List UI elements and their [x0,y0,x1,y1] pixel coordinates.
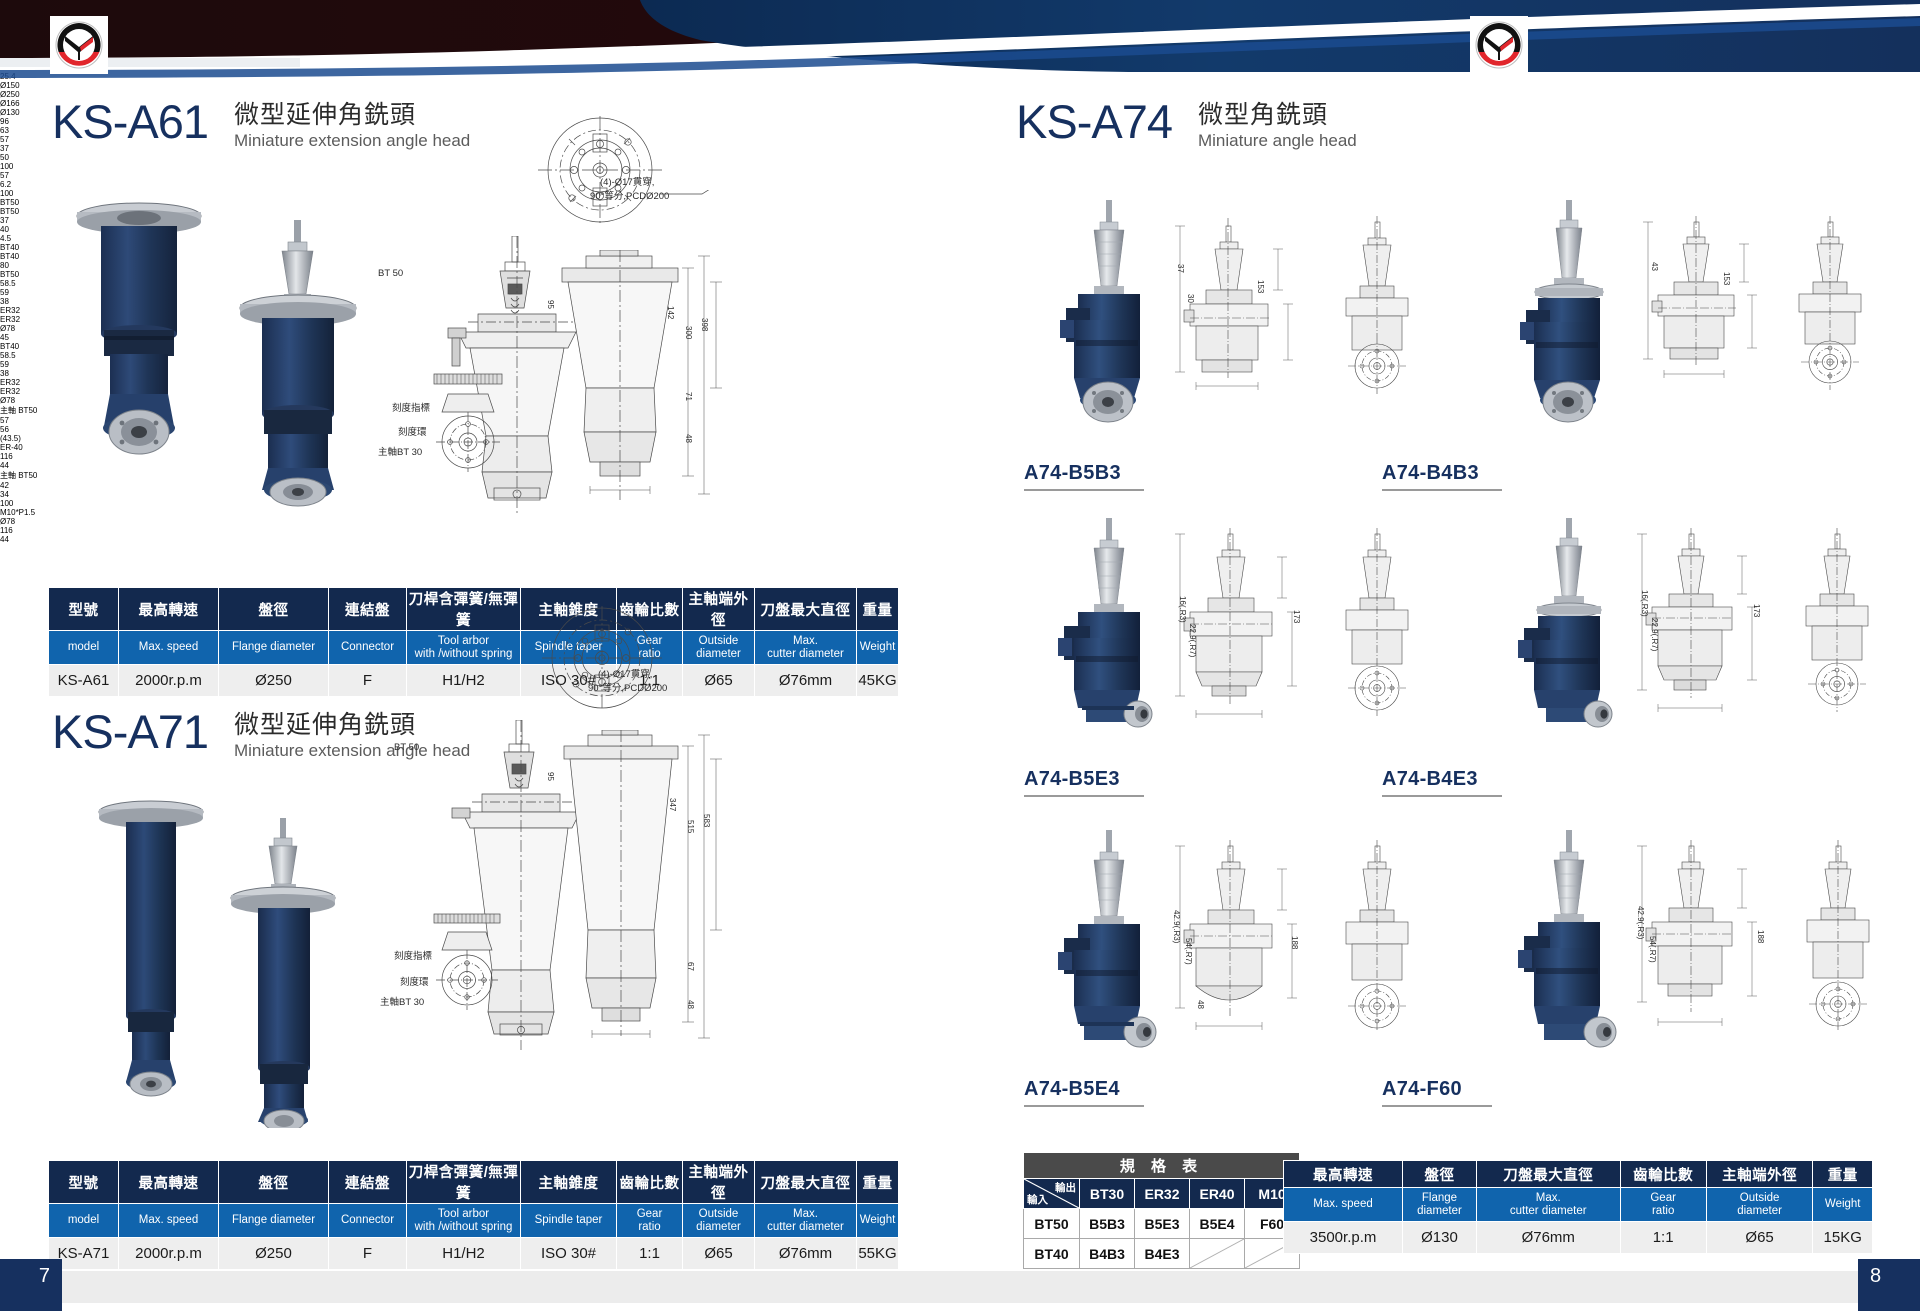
page-number-right: 8 [1858,1259,1920,1311]
th-en-flange-diameter: Flange diameter [219,1204,329,1238]
th-en-gear-ratio: Gear ratio [1620,1188,1706,1222]
product-photo-ks-a61-assembly [210,218,390,513]
compatibility-matrix-table: 規 格 表 輸入 輸出 BT30 ER32 ER40 M10 BT50 B5B3 [1023,1152,1300,1269]
product-title-ks-a61: KS-A61 微型延伸角銑頭 Miniature extension angle… [52,96,470,152]
cell-connector: F [329,1238,407,1270]
cell-connector: F [329,665,407,697]
table-header-row-cn: 最高轉速 盤徑 刀盤最大直徑 齒輪比數 主軸端外徑 重量 [1284,1161,1873,1188]
drawing-ks-a61-elevation [530,250,730,520]
th-cn-outside-diameter: 主軸端外徑 [1706,1161,1813,1188]
th-cn-tool-arbor: 刀桿含彈簧/無彈簧 [407,1161,521,1204]
circular-y-mark-logo-icon [1473,19,1525,71]
annotation-a74-b4b3-d3: 43 [1650,262,1659,271]
th-cn-connector: 連結盤 [329,588,407,631]
cell-tool-arbor: H1/H2 [407,665,521,697]
product-photo-a74-b4b3 [1490,200,1640,435]
matrix-row-header-bt40: BT40 [1024,1239,1080,1269]
table-row: 3500r.p.m Ø130 Ø76mm 1:1 Ø65 15KG [1284,1222,1873,1254]
product-photo-a74-b5e3 [1030,518,1180,743]
th-en-weight: Weight [1813,1188,1873,1222]
th-en-model: model [49,1204,119,1238]
product-name-cn: 微型延伸角銑頭 [234,100,470,130]
annotation-a74-b5b3-d5: 37 [1176,264,1185,273]
th-en-max-speed: Max. speed [119,631,219,665]
th-en-spindle-taper: Spindle taper [521,1204,617,1238]
annotation-a74-b5b3-d7: 57 [0,171,1920,180]
annotation-height-e-a61: 48 [684,434,693,443]
product-name-en: Miniature angle head [1198,130,1357,152]
product-photo-a74-b5e4 [1030,830,1180,1060]
annotation-a74-b5e4-d1: 188 [1290,936,1299,949]
annotation-a74-f60-d1: 188 [1756,930,1765,943]
drawing-a74-b4e3-side [1782,528,1897,728]
annotation-hole-note-a61-line2: 90°等分,PCDØ200 [590,188,669,202]
spec-table-ks-a71: 型號 最高轉速 盤徑 連結盤 刀桿含彈簧/無彈簧 主軸錐度 齒輪比數 主軸端外徑… [48,1160,899,1270]
product-photo-a74-b5b3 [1030,200,1180,435]
th-en-connector: Connector [329,1204,407,1238]
th-cn-flange-diameter: 盤徑 [219,1161,329,1204]
annotation-a74-b5b3-d2: 50 [0,153,1920,162]
th-en-model: model [49,631,119,665]
variant-label-a74-b5e3: A74-B5E3 [1024,768,1144,801]
matrix-row-header-bt50: BT50 [1024,1209,1080,1239]
product-photo-ks-a61-front [54,196,224,471]
matrix-row-bt40: BT40 B4B3 B4E3 [1024,1239,1300,1269]
product-code: KS-A74 [1016,96,1172,148]
matrix-cell-empty-er40 [1190,1239,1245,1269]
page-number-left-value: 7 [39,1265,50,1288]
cell-tool-arbor: H1/H2 [407,1238,521,1270]
annotation-hole-note-a71-line1: (4)-Ø17貫穿, [598,666,652,680]
table-header-row-en: Max. speed Flange diameter Max. cutter d… [1284,1188,1873,1222]
cell-max-cutter: Ø76mm [755,1238,857,1270]
matrix-title: 規 格 表 [1024,1153,1300,1179]
annotation-a74-b5b3-d6: 30 [1186,294,1195,303]
th-en-max-cutter: Max. cutter diameter [1476,1188,1620,1222]
th-cn-weight: 重量 [857,588,899,631]
drawing-a74-b5b3-side [1320,216,1440,416]
th-cn-max-cutter: 刀盤最大直徑 [755,1161,857,1204]
cell-max-cutter: Ø76mm [1476,1222,1620,1254]
annotation-a74-f60-d2: 42.9(.R3) [1636,906,1645,939]
matrix-corner-cell: 輸入 輸出 [1024,1179,1080,1209]
header-banner [0,0,1920,78]
matrix-cell-b5e4: B5E4 [1190,1209,1245,1239]
annotation-pilot-dia-a71: Ø150 [0,81,1920,90]
cell-weight: 15KG [1813,1222,1873,1254]
th-cn-spindle-taper: 主軸錐度 [521,1161,617,1204]
table-header-row-cn: 型號 最高轉速 盤徑 連結盤 刀桿含彈簧/無彈簧 主軸錐度 齒輪比數 主軸端外徑… [49,588,899,631]
annotation-height-a-a61: 300 [684,326,693,339]
annotation-a74-b5e4-d3: 54(.R7) [1184,938,1193,965]
cell-spindle-taper: ISO 30# [521,1238,617,1270]
catalog-spread: KS-A61 微型延伸角銑頭 Miniature extension angle… [0,0,1920,1311]
product-photo-a74-f60 [1490,830,1640,1060]
drawing-a74-b4b3-dim [1640,216,1760,406]
th-en-max-speed: Max. speed [119,1204,219,1238]
circular-y-mark-logo-icon [53,19,105,71]
th-cn-max-speed: 最高轉速 [1284,1161,1403,1188]
matrix-cell-b5e3: B5E3 [1135,1209,1190,1239]
cell-max-speed: 2000r.p.m [119,1238,219,1270]
table-row: KS-A61 2000r.p.m Ø250 F H1/H2 ISO 30# 1:… [49,665,899,697]
th-en-flange-diameter: Flange diameter [219,631,329,665]
matrix-col-bt30: BT30 [1080,1179,1135,1209]
drawing-ks-a71-bottom-view [404,912,534,1020]
product-title-ks-a74: KS-A74 微型角銑頭 Miniature angle head [1016,96,1357,152]
brand-logo-right [1470,16,1528,74]
annotation-a74-b5e3-d3: 16(.R3) [1178,596,1187,623]
annotation-height-c-a71: 95 [546,772,555,781]
drawing-ks-a61-flange-topview [520,110,680,230]
brand-logo-left [50,16,108,74]
annotation-a74-b4e3-d4: 22.9(.R7) [1650,618,1659,651]
variant-label-a74-b4e3: A74-B4E3 [1382,768,1502,801]
product-name-cn: 微型角銑頭 [1198,100,1357,130]
th-en-flange-diameter: Flange diameter [1403,1188,1477,1222]
drawing-a74-b5e3-side [1320,528,1440,728]
product-name-en: Miniature extension angle head [234,130,470,152]
th-cn-model: 型號 [49,1161,119,1204]
th-en-tool-arbor: Tool arbor with /without spring [407,631,521,665]
matrix-header-row: 輸入 輸出 BT30 ER32 ER40 M10 [1024,1179,1300,1209]
annotation-height-e-a71: 48 [686,1000,695,1009]
annotation-a74-b5b3-d4: 153 [1256,280,1265,293]
table-header-row-cn: 型號 最高轉速 盤徑 連結盤 刀桿含彈簧/無彈簧 主軸錐度 齒輪比數 主軸端外徑… [49,1161,899,1204]
cell-flange-diameter: Ø250 [219,665,329,697]
th-en-outside-diameter: Outside diameter [1706,1188,1813,1222]
th-cn-max-speed: 最高轉速 [119,588,219,631]
matrix-col-er32: ER32 [1135,1179,1190,1209]
variant-label-a74-f60: A74-F60 [1382,1078,1492,1111]
cell-max-speed: 2000r.p.m [119,665,219,697]
drawing-a74-f60-side [1782,840,1900,1040]
th-cn-connector: 連結盤 [329,1161,407,1204]
th-en-weight: Weight [857,1204,899,1238]
drawing-a74-b4b3-side [1775,216,1890,411]
annotation-taper-label-a61: BT 50 [378,268,403,279]
th-cn-model: 型號 [49,588,119,631]
th-en-connector: Connector [329,631,407,665]
annotation-hole-note-a61-line1: (4)-Ø17貫穿, [600,174,654,188]
annotation-a74-b5e3-d2: 173 [1292,610,1301,623]
spec-table-ks-a74: 最高轉速 盤徑 刀盤最大直徑 齒輪比數 主軸端外徑 重量 Max. speed … [1283,1160,1873,1254]
annotation-a74-b5b3-d8: 6.2 [0,180,1920,189]
cell-weight: 45KG [857,665,899,697]
page-number-left: 7 [0,1259,62,1311]
matrix-cell-b4b3: B4B3 [1080,1239,1135,1269]
cell-gear-ratio: 1:1 [617,1238,683,1270]
annotation-a74-b5b3-d9: 100 [0,189,1920,198]
drawing-ks-a71-flange-topview [524,600,680,716]
annotation-height-d-a71: 67 [686,962,695,971]
cell-flange-diameter: Ø250 [219,1238,329,1270]
leader-line-a61-hole [660,190,720,212]
th-cn-outside-diameter: 主軸端外徑 [683,588,755,631]
product-title-ks-a71: KS-A71 微型延伸角銑頭 Miniature extension angle… [52,706,470,762]
drawing-ks-a71-elevation [532,730,732,1050]
matrix-axis-output-label: 輸出 [1055,1180,1076,1195]
cell-gear-ratio: 1:1 [1620,1222,1706,1254]
matrix-col-er40: ER40 [1190,1179,1245,1209]
annotation-a74-b5e4-d2: 42.9(.R3) [1172,910,1181,943]
annotation-height-d-a61: 71 [684,392,693,401]
matrix-cell-b5b3: B5B3 [1080,1209,1135,1239]
matrix-cell-b4e3: B4E3 [1135,1239,1190,1269]
table-row: KS-A71 2000r.p.m Ø250 F H1/H2 ISO 30# 1:… [49,1238,899,1270]
product-code: KS-A61 [52,96,208,148]
drawing-ks-a61-bottom-view [404,372,534,482]
variant-label-a74-b4b3: A74-B4B3 [1382,462,1502,495]
banner-swoosh-graphic [0,0,1920,78]
annotation-a74-b4e3-d3: 16(.R3) [1640,590,1649,617]
th-en-max-cutter: Max. cutter diameter [755,631,857,665]
th-cn-max-speed: 最高轉速 [119,1161,219,1204]
cell-weight: 55KG [857,1238,899,1270]
th-cn-weight: 重量 [1813,1161,1873,1188]
variant-label-a74-b5e4: A74-B5E4 [1024,1078,1144,1111]
cell-max-cutter: Ø76mm [755,665,857,697]
annotation-a74-b5e4-d4: 48 [1196,1000,1205,1009]
table-header-row-en: model Max. speed Flange diameter Connect… [49,631,899,665]
th-en-gear-ratio: Gear ratio [617,1204,683,1238]
drawing-a74-b5b3-dim [1170,218,1300,418]
annotation-a74-b4e3-d2: 173 [1752,604,1761,617]
drawing-a74-b5e4-side [1320,840,1440,1040]
cell-max-speed: 3500r.p.m [1284,1222,1403,1254]
th-cn-tool-arbor: 刀桿含彈簧/無彈簧 [407,588,521,631]
th-en-outside-diameter: Outside diameter [683,1204,755,1238]
th-en-max-cutter: Max. cutter diameter [755,1204,857,1238]
th-cn-gear-ratio: 齒輪比數 [1620,1161,1706,1188]
th-cn-flange-diameter: 盤徑 [219,588,329,631]
th-cn-max-cutter: 刀盤最大直徑 [755,588,857,631]
product-code: KS-A71 [52,706,208,758]
cell-model: KS-A61 [49,665,119,697]
table-header-row-en: model Max. speed Flange diameter Connect… [49,1204,899,1238]
cell-outside-diameter: Ø65 [683,1238,755,1270]
annotation-height-total-a61: 398 [700,318,709,331]
annotation-height-c-a61: 95 [546,300,555,309]
th-cn-flange-diameter: 盤徑 [1403,1161,1477,1188]
matrix-row-bt50: BT50 B5B3 B5E3 B5E4 F60 [1024,1209,1300,1239]
th-en-outside-diameter: Outside diameter [683,631,755,665]
annotation-height-b-a71: 347 [668,798,677,811]
th-cn-weight: 重量 [857,1161,899,1204]
annotation-a74-b5b3-d3: 100 [0,162,1920,171]
cell-outside-diameter: Ø65 [1706,1222,1813,1254]
annotation-height-total-a71: 583 [702,814,711,827]
th-cn-gear-ratio: 齒輪比數 [617,1161,683,1204]
spec-table-ks-a61: 型號 最高轉速 盤徑 連結盤 刀桿含彈簧/無彈簧 主軸錐度 齒輪比數 主軸端外徑… [48,587,899,697]
matrix-axis-input-label: 輸入 [1027,1192,1048,1207]
th-cn-max-cutter: 刀盤最大直徑 [1476,1161,1620,1188]
product-photo-a74-b4e3 [1490,518,1640,743]
cell-outside-diameter: Ø65 [683,665,755,697]
th-en-max-speed: Max. speed [1284,1188,1403,1222]
variant-label-a74-b5b3: A74-B5B3 [1024,462,1144,495]
annotation-a74-b5e3-d4: 22.9(.R7) [1188,624,1197,657]
page-number-right-value: 8 [1870,1265,1881,1288]
th-en-tool-arbor: Tool arbor with /without spring [407,1204,521,1238]
th-cn-outside-diameter: 主軸端外徑 [683,1161,755,1204]
product-photo-ks-a71-assembly [200,818,370,1133]
cell-flange-diameter: Ø130 [1403,1222,1477,1254]
diagonal-strike-icon [1190,1239,1244,1268]
annotation-taper-label-a71: BT 50 [394,742,419,753]
annotation-height-a-a71: 515 [686,820,695,833]
th-en-weight: Weight [857,631,899,665]
annotation-hole-note-a71-line2: 90°等分,PCDØ200 [588,680,667,694]
footer-grey-band [62,1271,1862,1303]
matrix-title-row: 規 格 表 [1024,1153,1300,1179]
annotation-height-b-a61: 142 [666,306,675,319]
annotation-a74-f60-d3: 54(.R7) [1648,936,1657,963]
annotation-a74-b4b3-d4: 153 [1722,272,1731,285]
